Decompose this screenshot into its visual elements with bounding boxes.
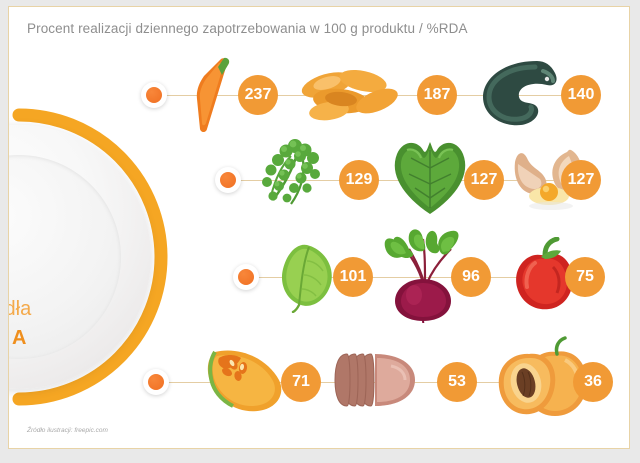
- value-badge: 71: [281, 362, 321, 402]
- value-badge: 127: [561, 160, 601, 200]
- infographic-card: Procent realizacji dziennego zapotrzebow…: [8, 6, 630, 449]
- value-badge: 127: [464, 160, 504, 200]
- value-badge: 237: [238, 75, 278, 115]
- value-badge: 140: [561, 75, 601, 115]
- parsley-icon: [257, 134, 335, 216]
- carrot-icon: [191, 55, 233, 135]
- value-badge: 36: [573, 362, 613, 402]
- page-title: Procent realizacji dziennego zapotrzebow…: [27, 21, 468, 36]
- value-badge: 101: [333, 257, 373, 297]
- value-badge: 96: [451, 257, 491, 297]
- kale-icon: [387, 134, 473, 216]
- pumpkin-slice-icon: [205, 344, 289, 416]
- source-credit: Źródło ilustracji: freepic.com: [27, 427, 108, 434]
- value-badge: 129: [339, 160, 379, 200]
- node-dot: [215, 167, 241, 193]
- data-row: 71 53: [9, 332, 630, 432]
- node-dot: [143, 369, 169, 395]
- data-row: 129 127: [9, 130, 630, 230]
- data-row: 101: [9, 227, 630, 327]
- node-dot: [141, 82, 167, 108]
- node-dot: [233, 264, 259, 290]
- sweet-potato-icon: [297, 59, 407, 131]
- value-badge: 75: [565, 257, 605, 297]
- spinach-leaf-icon: [277, 241, 339, 313]
- eel-icon: [475, 53, 563, 133]
- liver-pate-icon: [331, 350, 423, 410]
- value-badge: 187: [417, 75, 457, 115]
- value-badge: 53: [437, 362, 477, 402]
